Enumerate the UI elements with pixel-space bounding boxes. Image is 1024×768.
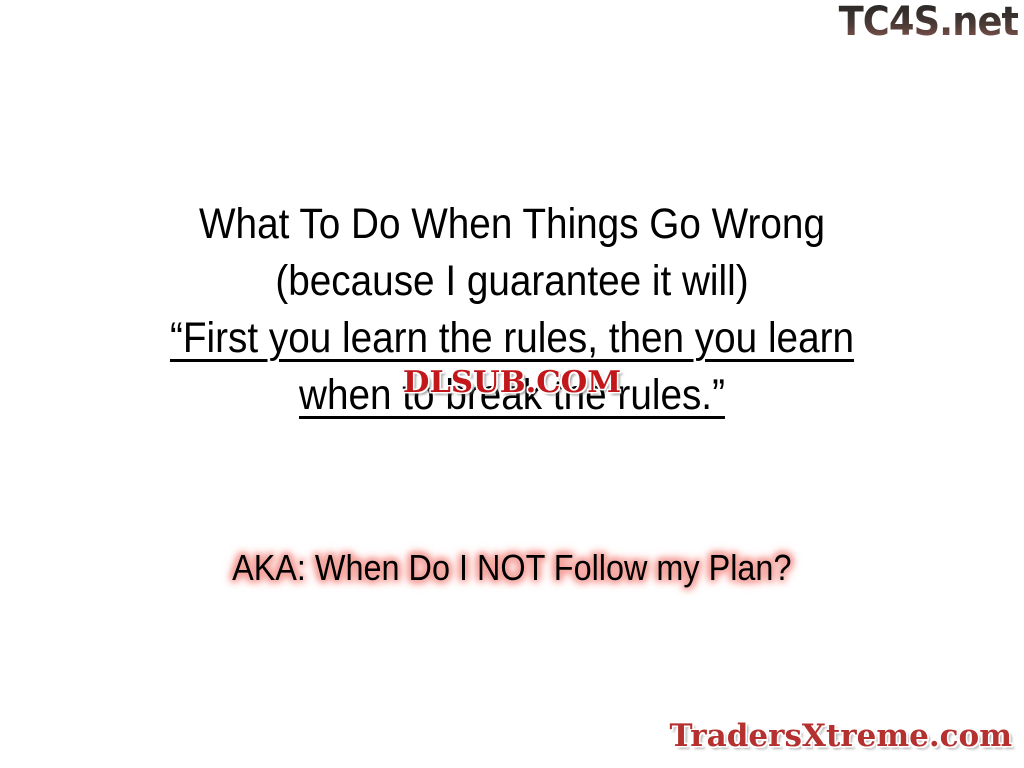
presentation-slide: TC4S.net What To Do When Things Go Wrong… <box>0 0 1024 768</box>
aka-question-text: AKA: When Do I NOT Follow my Plan? <box>232 546 791 590</box>
tc4s-brand-logo: TC4S.net <box>838 2 1018 42</box>
aka-row: AKA: When Do I NOT Follow my Plan? <box>0 546 1024 590</box>
headline-line-2: (because I guarantee it will) <box>51 253 973 310</box>
dlsub-watermark-text: DLSUB.COM <box>403 366 621 400</box>
quote-line-1: “First you learn the rules, then you lea… <box>51 310 973 367</box>
tradersxtreme-watermark: TradersXtreme.com <box>669 718 1012 754</box>
quote-line-1-text: “First you learn the rules, then you lea… <box>170 314 854 362</box>
headline-line-1: What To Do When Things Go Wrong <box>51 196 973 253</box>
dlsub-watermark: DLSUB.COM <box>405 366 619 400</box>
